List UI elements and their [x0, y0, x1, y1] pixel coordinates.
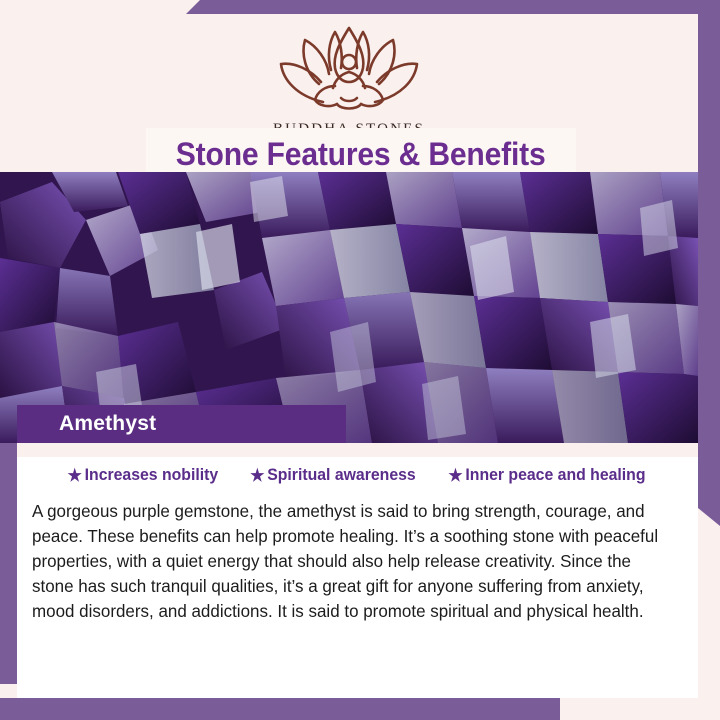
feature-list: ★ Increases nobility ★ Spiritual awarene…: [17, 465, 698, 485]
header: BUDDHA STONES Stone Features & Benefits: [0, 14, 698, 172]
bottom-band-cream-notch: [560, 698, 720, 720]
stone-name-bar: Amethyst: [17, 405, 346, 443]
star-icon: ★: [67, 467, 81, 484]
right-purple-strip: [698, 14, 720, 526]
feature-item-2: ★ Inner peace and healing: [449, 465, 646, 485]
feature-item-0: ★ Increases nobility: [67, 465, 218, 485]
left-purple-strip: [0, 420, 17, 684]
star-icon: ★: [449, 467, 463, 484]
content-card: ★ Increases nobility ★ Spiritual awarene…: [17, 443, 698, 698]
content-top-strip: [17, 443, 698, 457]
feature-label: Inner peace and healing: [466, 465, 646, 485]
star-icon: ★: [250, 467, 264, 484]
feature-label: Spiritual awareness: [267, 465, 416, 485]
page-title: Stone Features & Benefits: [176, 136, 546, 173]
infographic-card: BUDDHA STONES Stone Features & Benefits: [0, 0, 720, 720]
hero-image: [0, 172, 698, 443]
brand-logo: BUDDHA STONES: [0, 22, 698, 138]
feature-item-1: ★ Spiritual awareness: [250, 465, 415, 485]
feature-label: Increases nobility: [84, 465, 218, 485]
stone-description: A gorgeous purple gemstone, the amethyst…: [32, 499, 665, 624]
lotus-meditation-icon: [269, 22, 429, 114]
stone-name-label: Amethyst: [59, 412, 156, 436]
